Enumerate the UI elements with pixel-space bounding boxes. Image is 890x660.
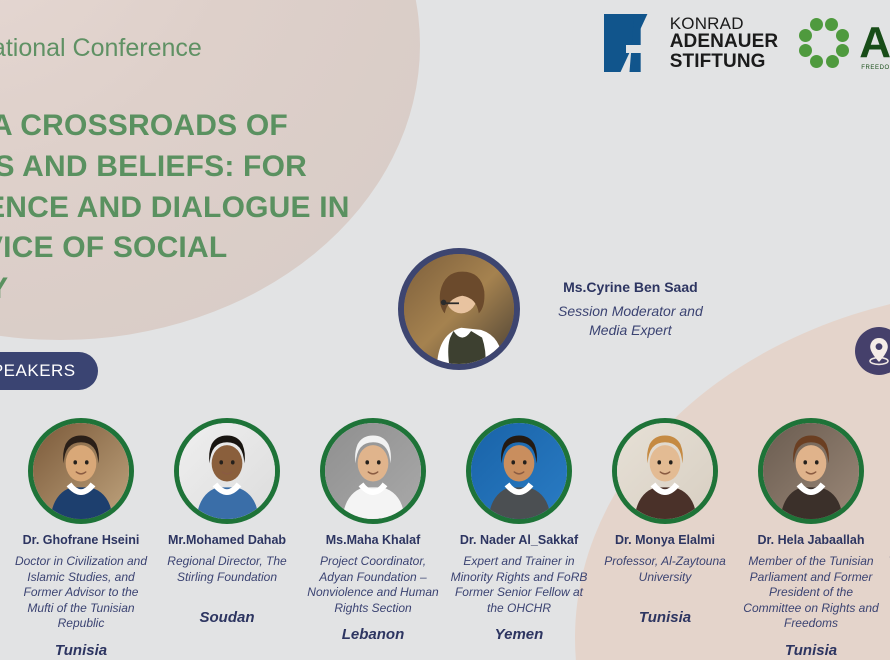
moderator-role-line-1: Session Moderator and (558, 302, 703, 320)
speaker-country: Tunisia (884, 594, 890, 611)
speaker-avatar (320, 418, 426, 524)
speaker-name: Dr. Nader Al_Sakkaf (446, 533, 592, 548)
speaker-card: Mr.Mohamed DahabRegional Director, The S… (154, 418, 300, 626)
speaker-role: Regional Director, The Stirling Foundati… (154, 554, 300, 585)
speaker-name: Dr. Takoua Neji (884, 533, 890, 548)
eyebrow-text: International Conference (0, 34, 202, 63)
speaker-photo (471, 423, 567, 519)
kas-a-mark-icon (604, 14, 660, 72)
speaker-name: Dr. Monya Elalmi (592, 533, 738, 548)
adf-tagline: FREEDOM (861, 65, 890, 71)
speaker-name: Dr. Ghofrane Hseini (8, 533, 154, 548)
speaker-photo (325, 423, 421, 519)
speaker-photo (763, 423, 859, 519)
speaker-name: Ms.Maha Khalaf (300, 533, 446, 548)
conference-poster: KONRAD ADENAUER STIFTUNG A FREEDOM Inter… (0, 0, 890, 660)
speaker-country: Tunisia (8, 642, 154, 659)
logo-bar: KONRAD ADENAUER STIFTUNG A FREEDOM (604, 14, 890, 72)
speaker-country: Tunisia (738, 642, 884, 659)
speaker-avatar (466, 418, 572, 524)
moderator-role-line-2: Media Expert (558, 321, 703, 339)
moderator-block: Ms.Cyrine Ben Saad Session Moderator and… (398, 248, 703, 370)
page-title: TUNISIA: A CROSSROADS OF CULTURES AND BE… (0, 106, 382, 310)
speaker-role: Doctor in Civilization and Islamic Studi… (8, 554, 154, 632)
speakers-row: Dr. Ghofrane HseiniDoctor in Civilizatio… (8, 418, 890, 659)
speaker-photo (33, 423, 129, 519)
speaker-country: Yemen (446, 626, 592, 643)
kas-line-2: ADENAUER (670, 32, 778, 51)
moderator-info: Ms.Cyrine Ben Saad Session Moderator and… (558, 279, 703, 339)
map-pin-icon (866, 336, 890, 366)
speaker-role: The National Observatory (884, 554, 890, 570)
speaker-photo (617, 423, 713, 519)
kas-line-1: KONRAD (670, 15, 778, 32)
moderator-photo (404, 254, 514, 364)
speaker-card: Dr. Takoua NejiThe National ObservatoryT… (884, 418, 890, 611)
speaker-role: Member of the Tunisian Parliament and Fo… (738, 554, 884, 632)
speaker-card: Dr. Monya ElalmiProfessor, Al-Zaytouna U… (592, 418, 738, 626)
speaker-country: Lebanon (300, 626, 446, 643)
kas-wordmark: KONRAD ADENAUER STIFTUNG (670, 15, 778, 71)
konrad-adenauer-stiftung-logo: KONRAD ADENAUER STIFTUNG (604, 14, 778, 72)
speaker-name: Mr.Mohamed Dahab (154, 533, 300, 548)
speaker-country: Tunisia (592, 609, 738, 626)
kas-line-3: STIFTUNG (670, 52, 778, 71)
speakers-label: SPEAKERS (0, 352, 98, 390)
speaker-avatar (758, 418, 864, 524)
speaker-name: Dr. Hela Jabaallah (738, 533, 884, 548)
speaker-card: Ms.Maha KhalafProject Coordinator, Adyan… (300, 418, 446, 643)
speaker-avatar (174, 418, 280, 524)
speaker-country: Soudan (154, 609, 300, 626)
speaker-card: Dr. Hela JabaallahMember of the Tunisian… (738, 418, 884, 659)
speaker-role: Expert and Trainer in Minority Rights an… (446, 554, 592, 616)
speaker-avatar (612, 418, 718, 524)
adf-logo: A FREEDOM (796, 15, 890, 71)
moderator-avatar (398, 248, 520, 370)
speaker-photo (179, 423, 275, 519)
adf-letter: A (859, 23, 890, 63)
speaker-avatar (28, 418, 134, 524)
adf-wordmark: A FREEDOM (859, 23, 890, 63)
adf-dot-circle-icon (796, 15, 852, 71)
speaker-role: Project Coordinator, Adyan Foundation – … (300, 554, 446, 616)
speaker-role: Professor, Al-Zaytouna University (592, 554, 738, 585)
moderator-name: Ms.Cyrine Ben Saad (558, 279, 703, 295)
speaker-card: Dr. Nader Al_SakkafExpert and Trainer in… (446, 418, 592, 643)
speaker-card: Dr. Ghofrane HseiniDoctor in Civilizatio… (8, 418, 154, 659)
location-badge (855, 327, 890, 375)
